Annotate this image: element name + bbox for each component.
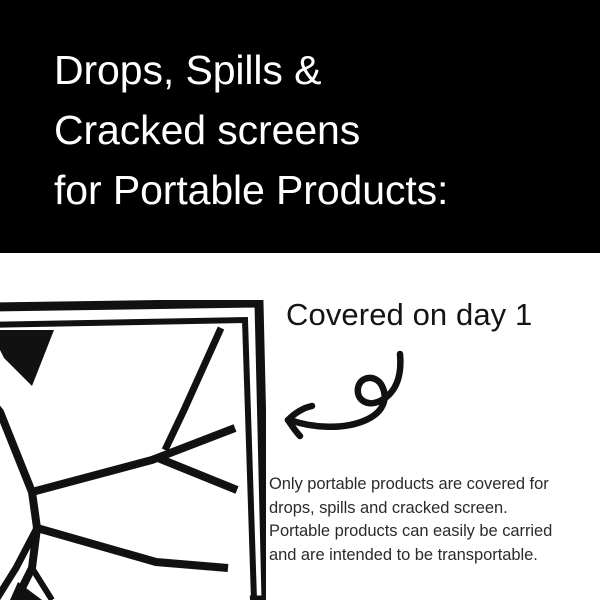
curly-arrow-svg [272, 350, 412, 440]
body-line-1: Only portable products are covered for [269, 473, 589, 497]
header-banner: Drops, Spills & Cracked screens for Port… [0, 0, 600, 253]
page-title-line-3: for Portable Products: [54, 160, 584, 220]
body-line-3: Portable products can easily be carried [269, 520, 589, 544]
page-title-line-1: Drops, Spills & [54, 40, 584, 100]
body-paragraph: Only portable products are covered for d… [269, 473, 589, 567]
page-title: Drops, Spills & Cracked screens for Port… [54, 40, 584, 220]
arrowhead-upper-barb [288, 406, 312, 420]
page-title-line-2: Cracked screens [54, 100, 584, 160]
cracked-screen-icon [0, 300, 266, 600]
callout-heading: Covered on day 1 [286, 296, 532, 334]
poster-canvas: Drops, Spills & Cracked screens for Port… [0, 0, 600, 600]
curly-arrow-icon [272, 350, 412, 440]
body-line-4: and are intended to be transportable. [269, 544, 589, 568]
body-line-2: drops, spills and cracked screen. [269, 497, 589, 521]
arrow-tail-path [290, 354, 400, 427]
cracked-screen-svg [0, 300, 266, 600]
